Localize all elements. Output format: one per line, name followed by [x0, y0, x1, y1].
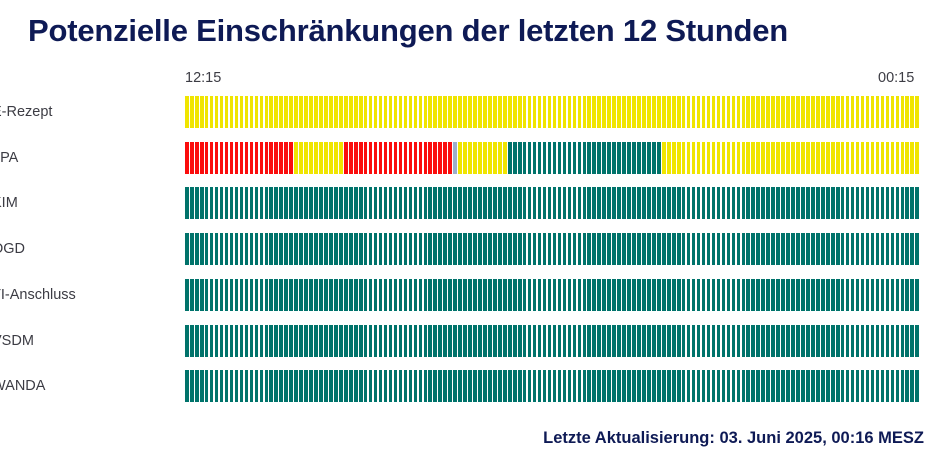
- status-bar-ok[interactable]: [632, 233, 636, 265]
- status-bar-warning[interactable]: [379, 96, 383, 128]
- status-bar-ok[interactable]: [299, 233, 303, 265]
- status-bar-warning[interactable]: [737, 142, 741, 174]
- status-bar-ok[interactable]: [677, 370, 681, 402]
- status-bar-error[interactable]: [433, 142, 437, 174]
- status-bar-ok[interactable]: [647, 279, 651, 311]
- status-bar-ok[interactable]: [269, 370, 273, 402]
- status-bar-ok[interactable]: [488, 279, 492, 311]
- status-bar-warning[interactable]: [483, 142, 487, 174]
- status-bar-ok[interactable]: [583, 233, 587, 265]
- status-bar-ok[interactable]: [776, 325, 780, 357]
- status-bar-ok[interactable]: [354, 325, 358, 357]
- status-bar-warning[interactable]: [548, 96, 552, 128]
- status-bar-ok[interactable]: [508, 325, 512, 357]
- status-bar-ok[interactable]: [309, 279, 313, 311]
- status-bar-ok[interactable]: [414, 370, 418, 402]
- status-bar-ok[interactable]: [424, 370, 428, 402]
- status-bar-ok[interactable]: [294, 187, 298, 219]
- status-bar-ok[interactable]: [314, 187, 318, 219]
- status-bar-warning[interactable]: [866, 142, 870, 174]
- status-bar-warning[interactable]: [702, 96, 706, 128]
- status-bar-warning[interactable]: [737, 96, 741, 128]
- status-bar-ok[interactable]: [240, 370, 244, 402]
- status-bar-warning[interactable]: [901, 142, 905, 174]
- status-bar-ok[interactable]: [389, 233, 393, 265]
- status-bar-ok[interactable]: [478, 233, 482, 265]
- status-bar-ok[interactable]: [309, 370, 313, 402]
- status-bar-ok[interactable]: [210, 279, 214, 311]
- status-bar-ok[interactable]: [901, 325, 905, 357]
- status-bar-ok[interactable]: [389, 370, 393, 402]
- status-bar-warning[interactable]: [722, 96, 726, 128]
- status-bar-ok[interactable]: [230, 233, 234, 265]
- status-bar-warning[interactable]: [771, 96, 775, 128]
- status-bar-ok[interactable]: [637, 370, 641, 402]
- status-bar-ok[interactable]: [483, 279, 487, 311]
- status-bar-ok[interactable]: [265, 370, 269, 402]
- status-bar-ok[interactable]: [493, 233, 497, 265]
- status-bar-warning[interactable]: [891, 142, 895, 174]
- status-bar-error[interactable]: [220, 142, 224, 174]
- status-bar-ok[interactable]: [200, 325, 204, 357]
- status-bar-ok[interactable]: [637, 187, 641, 219]
- status-bar-ok[interactable]: [473, 325, 477, 357]
- status-bar-ok[interactable]: [627, 370, 631, 402]
- status-bar-ok[interactable]: [548, 325, 552, 357]
- status-bar-ok[interactable]: [443, 187, 447, 219]
- status-bar-warning[interactable]: [458, 142, 462, 174]
- status-bar-error[interactable]: [289, 142, 293, 174]
- status-bar-ok[interactable]: [826, 233, 830, 265]
- status-bar-ok[interactable]: [294, 325, 298, 357]
- status-bar-warning[interactable]: [707, 142, 711, 174]
- status-bar-ok[interactable]: [274, 279, 278, 311]
- status-bar-ok[interactable]: [404, 370, 408, 402]
- status-bar-warning[interactable]: [821, 142, 825, 174]
- status-bar-ok[interactable]: [458, 325, 462, 357]
- status-bar-ok[interactable]: [274, 370, 278, 402]
- status-bar-ok[interactable]: [245, 233, 249, 265]
- status-bar-ok[interactable]: [433, 325, 437, 357]
- status-bar-warning[interactable]: [528, 96, 532, 128]
- status-bar-ok[interactable]: [468, 187, 472, 219]
- status-bar-warning[interactable]: [722, 142, 726, 174]
- status-bar-warning[interactable]: [438, 96, 442, 128]
- status-bar-ok[interactable]: [891, 325, 895, 357]
- status-bar-ok[interactable]: [269, 187, 273, 219]
- status-bar-error[interactable]: [284, 142, 288, 174]
- status-bar-ok[interactable]: [751, 325, 755, 357]
- status-bar-warning[interactable]: [622, 96, 626, 128]
- status-bar-ok[interactable]: [458, 233, 462, 265]
- status-bar-ok[interactable]: [905, 325, 909, 357]
- status-bar-ok[interactable]: [235, 233, 239, 265]
- status-bar-ok[interactable]: [364, 233, 368, 265]
- status-bar-warning[interactable]: [682, 96, 686, 128]
- status-bar-ok[interactable]: [578, 370, 582, 402]
- status-bar-ok[interactable]: [453, 187, 457, 219]
- status-bar-ok[interactable]: [761, 325, 765, 357]
- status-bar-warning[interactable]: [876, 96, 880, 128]
- status-bar-warning[interactable]: [245, 96, 249, 128]
- status-bar-ok[interactable]: [354, 279, 358, 311]
- status-bar-ok[interactable]: [662, 279, 666, 311]
- status-bar-warning[interactable]: [508, 96, 512, 128]
- status-bar-ok[interactable]: [727, 370, 731, 402]
- status-bar-ok[interactable]: [185, 187, 189, 219]
- status-bar-ok[interactable]: [821, 279, 825, 311]
- status-bar-ok[interactable]: [374, 370, 378, 402]
- status-bar-error[interactable]: [255, 142, 259, 174]
- status-bar-ok[interactable]: [414, 279, 418, 311]
- status-bar-warning[interactable]: [821, 96, 825, 128]
- status-bar-ok[interactable]: [528, 233, 532, 265]
- status-bar-ok[interactable]: [314, 233, 318, 265]
- status-bar-warning[interactable]: [786, 96, 790, 128]
- status-bar-ok[interactable]: [334, 325, 338, 357]
- status-bar-ok[interactable]: [568, 279, 572, 311]
- status-bar-ok[interactable]: [384, 279, 388, 311]
- status-bar-ok[interactable]: [607, 279, 611, 311]
- status-bar-ok[interactable]: [881, 187, 885, 219]
- status-bar-ok[interactable]: [523, 325, 527, 357]
- status-bar-ok[interactable]: [866, 187, 870, 219]
- status-bar-ok[interactable]: [553, 325, 557, 357]
- status-bar-ok[interactable]: [891, 279, 895, 311]
- status-bar-ok[interactable]: [662, 325, 666, 357]
- status-bar-ok[interactable]: [702, 279, 706, 311]
- status-bar-error[interactable]: [443, 142, 447, 174]
- status-bar-ok[interactable]: [637, 279, 641, 311]
- status-bar-warning[interactable]: [861, 142, 865, 174]
- status-bar-ok[interactable]: [329, 279, 333, 311]
- status-bar-ok[interactable]: [627, 187, 631, 219]
- status-bar-ok[interactable]: [781, 325, 785, 357]
- status-bar-ok[interactable]: [771, 187, 775, 219]
- status-bar-ok[interactable]: [652, 187, 656, 219]
- status-bar-ok[interactable]: [816, 370, 820, 402]
- status-bar-ok[interactable]: [503, 370, 507, 402]
- status-bar-warning[interactable]: [284, 96, 288, 128]
- status-bar-warning[interactable]: [766, 96, 770, 128]
- status-bar-ok[interactable]: [717, 233, 721, 265]
- status-bar-ok[interactable]: [846, 233, 850, 265]
- status-bar-ok[interactable]: [583, 187, 587, 219]
- status-bar-ok[interactable]: [195, 187, 199, 219]
- status-bar-ok[interactable]: [438, 279, 442, 311]
- status-bar-warning[interactable]: [876, 142, 880, 174]
- status-bar-ok[interactable]: [200, 187, 204, 219]
- status-bar-ok[interactable]: [846, 279, 850, 311]
- status-bar-ok[interactable]: [428, 325, 432, 357]
- status-bar-ok[interactable]: [513, 233, 517, 265]
- status-bar-ok[interactable]: [771, 370, 775, 402]
- status-bar-warning[interactable]: [448, 96, 452, 128]
- status-bar-ok[interactable]: [617, 142, 621, 174]
- status-bar-ok[interactable]: [205, 279, 209, 311]
- status-bar-ok[interactable]: [359, 233, 363, 265]
- status-bar-warning[interactable]: [896, 142, 900, 174]
- status-bar-ok[interactable]: [384, 233, 388, 265]
- status-bar-ok[interactable]: [260, 325, 264, 357]
- status-bar-ok[interactable]: [498, 233, 502, 265]
- status-bar-ok[interactable]: [299, 325, 303, 357]
- status-bar-ok[interactable]: [210, 233, 214, 265]
- status-bar-ok[interactable]: [284, 370, 288, 402]
- status-bar-ok[interactable]: [871, 325, 875, 357]
- status-bar-ok[interactable]: [627, 233, 631, 265]
- status-bar-ok[interactable]: [692, 233, 696, 265]
- status-bar-ok[interactable]: [851, 279, 855, 311]
- status-bar-ok[interactable]: [260, 279, 264, 311]
- status-bar-ok[interactable]: [568, 233, 572, 265]
- status-bar-ok[interactable]: [587, 325, 591, 357]
- status-bar-warning[interactable]: [419, 96, 423, 128]
- status-bar-ok[interactable]: [543, 233, 547, 265]
- status-bar-ok[interactable]: [573, 279, 577, 311]
- status-bar-ok[interactable]: [513, 325, 517, 357]
- status-bar-ok[interactable]: [717, 370, 721, 402]
- status-bar-ok[interactable]: [647, 370, 651, 402]
- status-bar-ok[interactable]: [463, 279, 467, 311]
- status-bar-warning[interactable]: [776, 142, 780, 174]
- status-bar-ok[interactable]: [697, 233, 701, 265]
- status-bar-ok[interactable]: [528, 370, 532, 402]
- status-bar-ok[interactable]: [523, 370, 527, 402]
- status-bar-error[interactable]: [274, 142, 278, 174]
- status-bar-ok[interactable]: [806, 325, 810, 357]
- status-bar-ok[interactable]: [866, 325, 870, 357]
- status-bar-warning[interactable]: [543, 96, 547, 128]
- status-bar-warning[interactable]: [637, 96, 641, 128]
- status-bar-ok[interactable]: [766, 187, 770, 219]
- status-bar-ok[interactable]: [647, 325, 651, 357]
- status-bar-warning[interactable]: [458, 96, 462, 128]
- status-bar-ok[interactable]: [573, 370, 577, 402]
- status-bar-ok[interactable]: [438, 370, 442, 402]
- status-bar-ok[interactable]: [756, 187, 760, 219]
- status-bar-ok[interactable]: [294, 233, 298, 265]
- status-bar-warning[interactable]: [200, 96, 204, 128]
- status-bar-warning[interactable]: [910, 96, 914, 128]
- status-bar-ok[interactable]: [587, 187, 591, 219]
- status-bar-warning[interactable]: [667, 142, 671, 174]
- status-bar-warning[interactable]: [359, 96, 363, 128]
- status-bar-ok[interactable]: [737, 187, 741, 219]
- status-bar-ok[interactable]: [269, 325, 273, 357]
- status-bar-ok[interactable]: [597, 142, 601, 174]
- status-bar-ok[interactable]: [866, 233, 870, 265]
- status-bar-warning[interactable]: [399, 96, 403, 128]
- status-bar-warning[interactable]: [831, 142, 835, 174]
- status-bar-ok[interactable]: [761, 279, 765, 311]
- status-bar-warning[interactable]: [414, 96, 418, 128]
- status-bar-ok[interactable]: [612, 279, 616, 311]
- status-bar-ok[interactable]: [791, 370, 795, 402]
- status-bar-ok[interactable]: [463, 325, 467, 357]
- status-bar-warning[interactable]: [846, 96, 850, 128]
- status-bar-ok[interactable]: [185, 370, 189, 402]
- status-bar-ok[interactable]: [612, 325, 616, 357]
- status-bar-ok[interactable]: [289, 233, 293, 265]
- status-bar-error[interactable]: [394, 142, 398, 174]
- status-bar-ok[interactable]: [324, 187, 328, 219]
- status-bar-warning[interactable]: [712, 142, 716, 174]
- status-bar-ok[interactable]: [801, 233, 805, 265]
- status-bar-ok[interactable]: [553, 370, 557, 402]
- status-bar-ok[interactable]: [692, 325, 696, 357]
- status-bar-ok[interactable]: [821, 325, 825, 357]
- status-bar-ok[interactable]: [324, 370, 328, 402]
- status-bar-ok[interactable]: [284, 325, 288, 357]
- status-bar-warning[interactable]: [344, 96, 348, 128]
- status-bar-ok[interactable]: [905, 187, 909, 219]
- status-bar-ok[interactable]: [478, 325, 482, 357]
- status-bar-ok[interactable]: [563, 279, 567, 311]
- status-bar-warning[interactable]: [394, 96, 398, 128]
- status-bar-warning[interactable]: [905, 96, 909, 128]
- status-bar-warning[interactable]: [786, 142, 790, 174]
- status-bar-ok[interactable]: [592, 279, 596, 311]
- status-bar-ok[interactable]: [786, 325, 790, 357]
- status-bar-ok[interactable]: [622, 142, 626, 174]
- status-bar-ok[interactable]: [409, 279, 413, 311]
- status-bar-ok[interactable]: [379, 233, 383, 265]
- status-bar-ok[interactable]: [265, 279, 269, 311]
- status-bar-ok[interactable]: [538, 279, 542, 311]
- status-bar-warning[interactable]: [349, 96, 353, 128]
- status-bar-ok[interactable]: [394, 279, 398, 311]
- status-bar-ok[interactable]: [856, 370, 860, 402]
- status-bar-ok[interactable]: [846, 187, 850, 219]
- status-bar-ok[interactable]: [821, 233, 825, 265]
- status-bar-ok[interactable]: [215, 187, 219, 219]
- status-bar-ok[interactable]: [260, 370, 264, 402]
- status-bar-warning[interactable]: [891, 96, 895, 128]
- status-bar-ok[interactable]: [826, 325, 830, 357]
- status-bar-ok[interactable]: [717, 325, 721, 357]
- status-bar-ok[interactable]: [856, 325, 860, 357]
- status-bar-ok[interactable]: [299, 187, 303, 219]
- status-bar-warning[interactable]: [727, 142, 731, 174]
- status-bar-warning[interactable]: [861, 96, 865, 128]
- status-bar-ok[interactable]: [488, 187, 492, 219]
- status-bar-ok[interactable]: [443, 233, 447, 265]
- status-bar-error[interactable]: [424, 142, 428, 174]
- status-bar-warning[interactable]: [871, 142, 875, 174]
- status-bar-ok[interactable]: [642, 233, 646, 265]
- status-bar-ok[interactable]: [861, 325, 865, 357]
- status-bar-ok[interactable]: [592, 325, 596, 357]
- status-bar-ok[interactable]: [195, 233, 199, 265]
- status-bar-ok[interactable]: [592, 233, 596, 265]
- status-bar-ok[interactable]: [776, 279, 780, 311]
- status-bar-ok[interactable]: [667, 370, 671, 402]
- status-bar-ok[interactable]: [279, 325, 283, 357]
- status-bar-ok[interactable]: [851, 370, 855, 402]
- status-bar-warning[interactable]: [617, 96, 621, 128]
- status-bar-warning[interactable]: [692, 96, 696, 128]
- status-bar-ok[interactable]: [428, 187, 432, 219]
- status-bar-ok[interactable]: [617, 233, 621, 265]
- status-bar-ok[interactable]: [334, 279, 338, 311]
- status-bar-ok[interactable]: [533, 279, 537, 311]
- status-bar-ok[interactable]: [334, 187, 338, 219]
- status-bar-ok[interactable]: [612, 142, 616, 174]
- status-bar-ok[interactable]: [776, 233, 780, 265]
- status-bar-ok[interactable]: [910, 187, 914, 219]
- status-bar-ok[interactable]: [727, 325, 731, 357]
- status-bar-warning[interactable]: [195, 96, 199, 128]
- status-bar-ok[interactable]: [677, 279, 681, 311]
- status-bar-ok[interactable]: [592, 187, 596, 219]
- status-bar-ok[interactable]: [821, 370, 825, 402]
- status-bar-ok[interactable]: [443, 325, 447, 357]
- status-bar-warning[interactable]: [473, 96, 477, 128]
- status-bar-ok[interactable]: [304, 370, 308, 402]
- status-bar-ok[interactable]: [453, 279, 457, 311]
- status-bar-ok[interactable]: [573, 325, 577, 357]
- status-bar-ok[interactable]: [627, 142, 631, 174]
- status-bar-warning[interactable]: [806, 96, 810, 128]
- status-bar-ok[interactable]: [483, 370, 487, 402]
- status-bar-warning[interactable]: [374, 96, 378, 128]
- status-bar-ok[interactable]: [508, 233, 512, 265]
- status-bar-ok[interactable]: [583, 325, 587, 357]
- status-bar-ok[interactable]: [881, 325, 885, 357]
- status-bar-warning[interactable]: [597, 96, 601, 128]
- status-bar-ok[interactable]: [831, 233, 835, 265]
- status-bar-error[interactable]: [389, 142, 393, 174]
- status-bar-ok[interactable]: [801, 279, 805, 311]
- status-bar-ok[interactable]: [538, 370, 542, 402]
- status-bar-ok[interactable]: [886, 187, 890, 219]
- status-bar-ok[interactable]: [304, 233, 308, 265]
- status-bar-ok[interactable]: [250, 325, 254, 357]
- status-bar-ok[interactable]: [791, 279, 795, 311]
- status-bar-ok[interactable]: [901, 279, 905, 311]
- status-bar-ok[interactable]: [702, 325, 706, 357]
- status-bar-ok[interactable]: [284, 279, 288, 311]
- status-bar-ok[interactable]: [597, 370, 601, 402]
- status-bar-ok[interactable]: [602, 233, 606, 265]
- status-bar-ok[interactable]: [742, 233, 746, 265]
- status-bar-error[interactable]: [414, 142, 418, 174]
- status-bar-ok[interactable]: [826, 279, 830, 311]
- status-bar-ok[interactable]: [682, 325, 686, 357]
- status-bar-ok[interactable]: [737, 325, 741, 357]
- status-bar-ok[interactable]: [289, 325, 293, 357]
- status-bar-ok[interactable]: [185, 325, 189, 357]
- status-bar-ok[interactable]: [905, 370, 909, 402]
- status-bar-ok[interactable]: [801, 370, 805, 402]
- status-bar-ok[interactable]: [463, 370, 467, 402]
- status-bar-warning[interactable]: [339, 96, 343, 128]
- status-bar-ok[interactable]: [389, 279, 393, 311]
- status-bar-warning[interactable]: [692, 142, 696, 174]
- status-bar-ok[interactable]: [195, 279, 199, 311]
- status-bar-warning[interactable]: [573, 96, 577, 128]
- status-bar-ok[interactable]: [657, 233, 661, 265]
- status-bar-warning[interactable]: [851, 96, 855, 128]
- status-bar-ok[interactable]: [722, 370, 726, 402]
- status-bar-ok[interactable]: [314, 370, 318, 402]
- status-bar-ok[interactable]: [284, 233, 288, 265]
- status-bar-ok[interactable]: [786, 279, 790, 311]
- status-bar-ok[interactable]: [498, 187, 502, 219]
- status-bar-ok[interactable]: [473, 187, 477, 219]
- status-bar-error[interactable]: [374, 142, 378, 174]
